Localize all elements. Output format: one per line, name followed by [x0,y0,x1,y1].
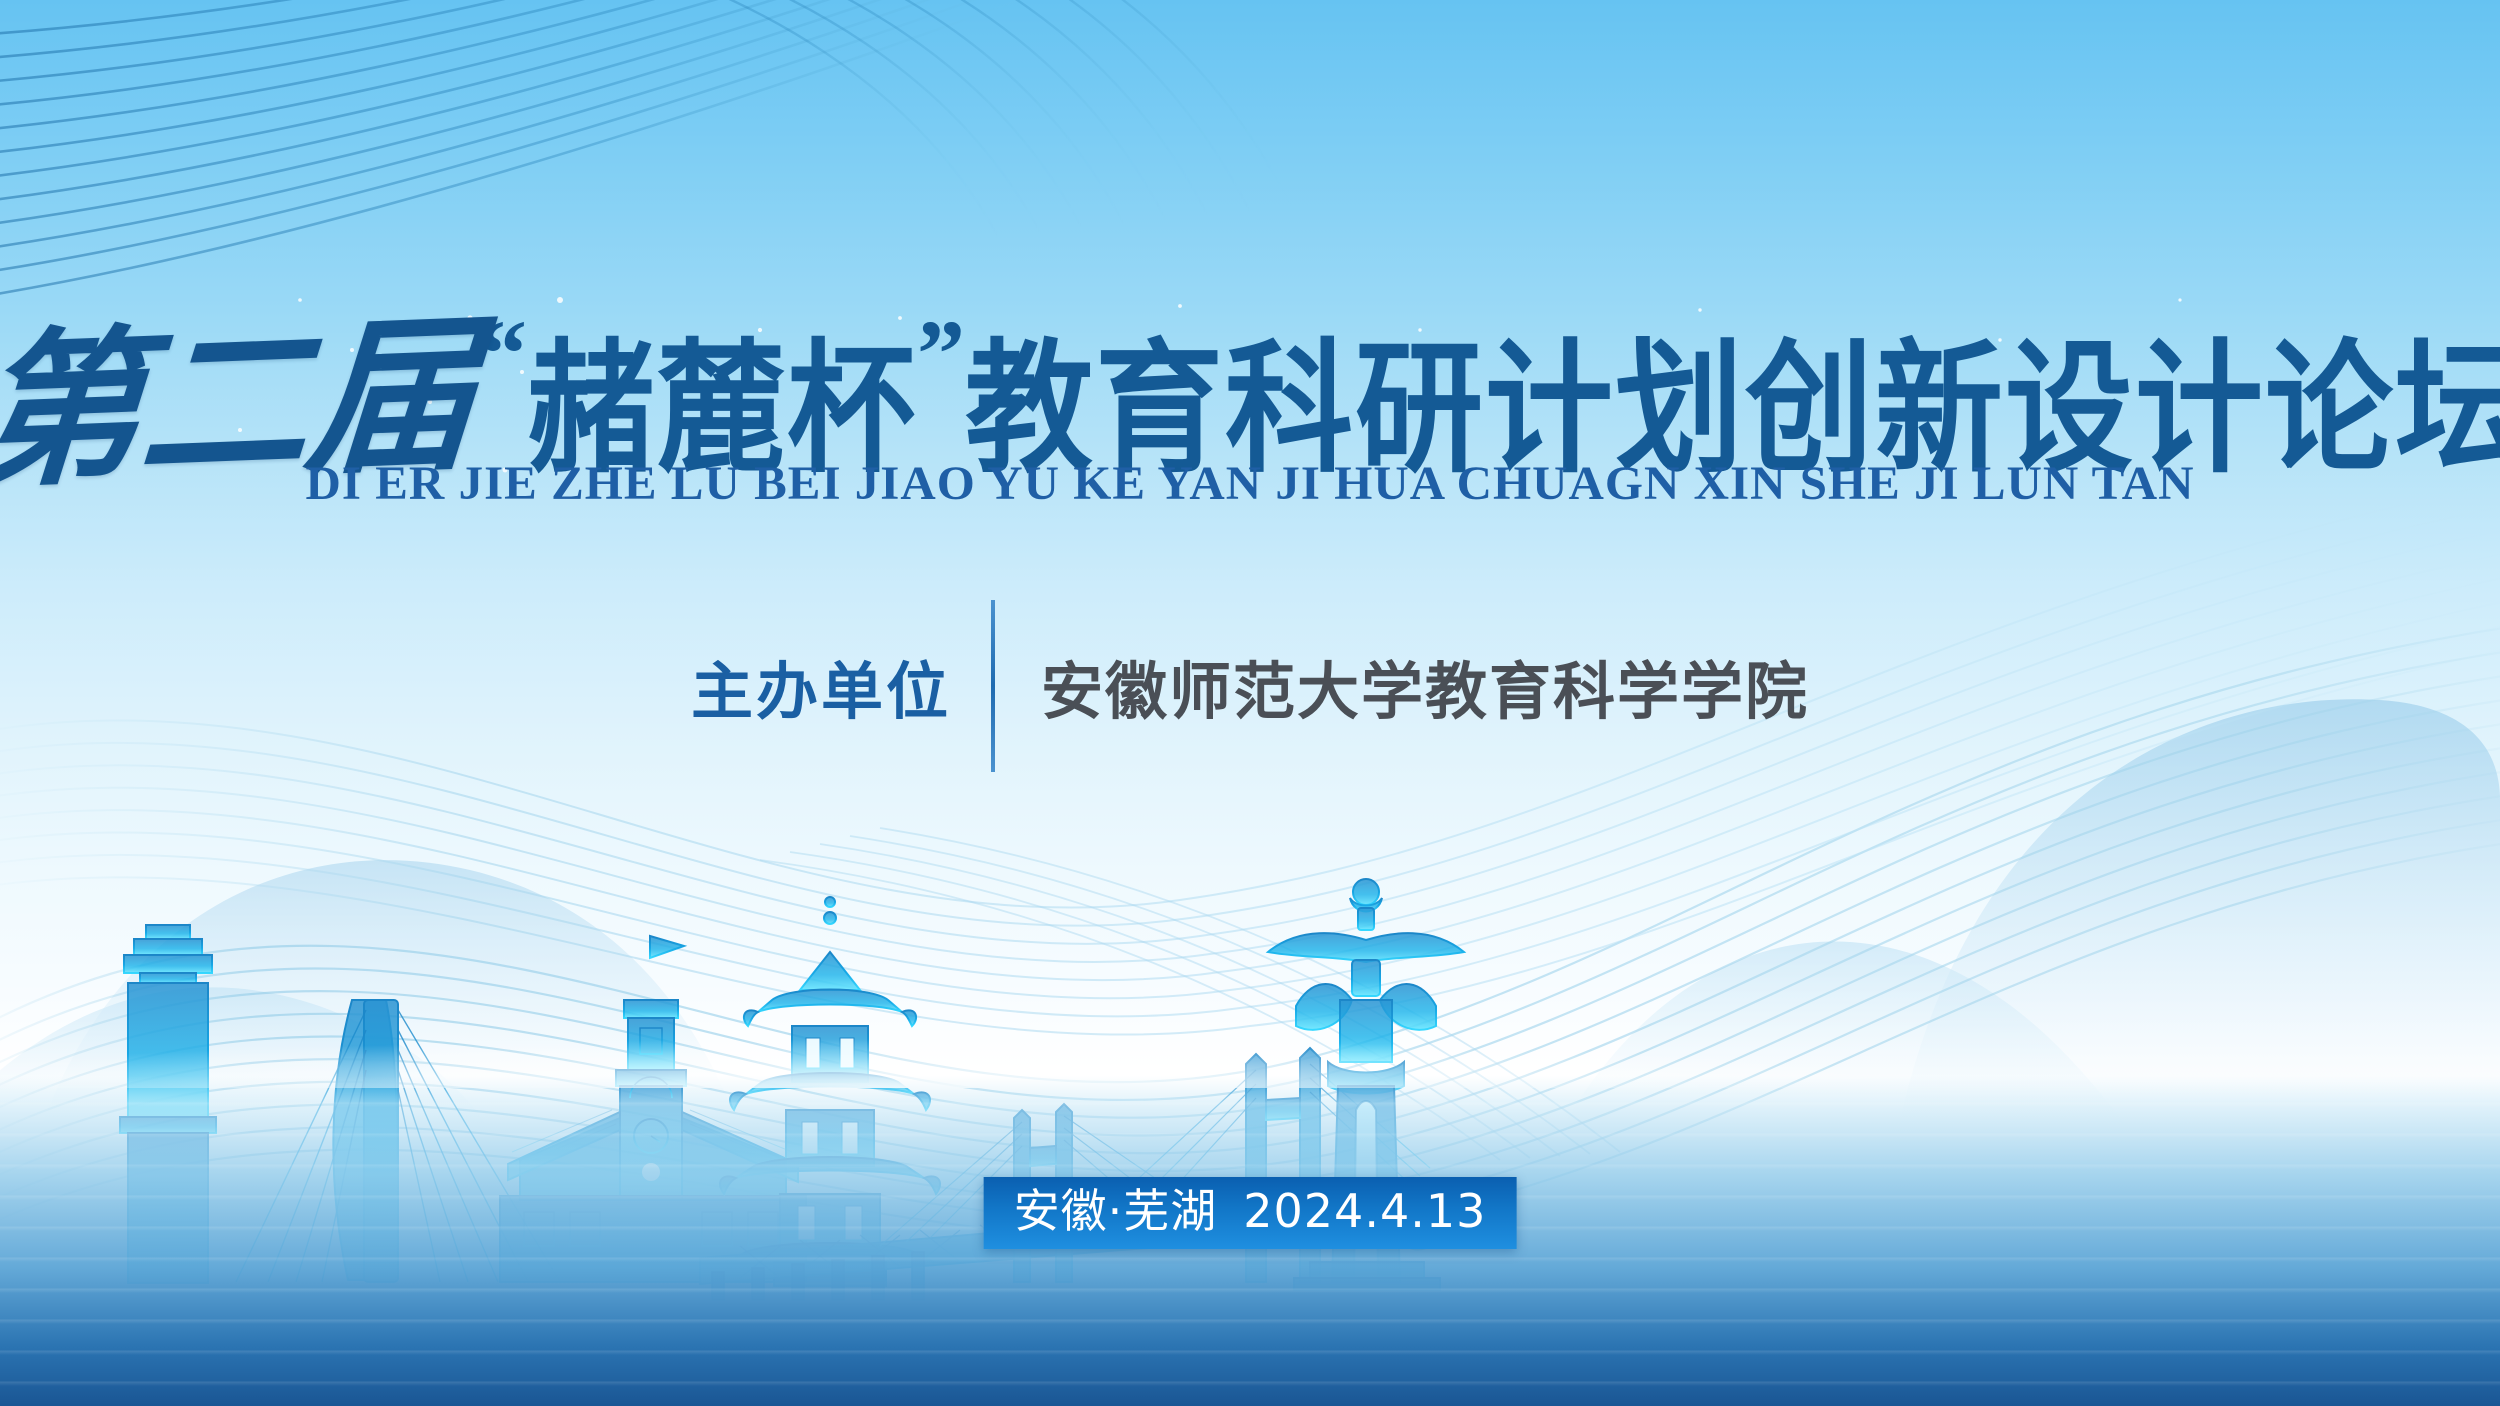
location-text: 安徽·芜湖 [1014,1184,1218,1238]
date-text: 2024.4.13 [1243,1184,1486,1238]
quote-open-mark: “ [479,298,527,409]
poster-canvas: 第二届 “ 赭麓杯 ” 教育科研计划创新设计论坛 DI ER JIE ZHE L… [0,0,2500,1406]
organizer-name: 安徽师范大学教育科学学院 [995,641,1809,731]
headline: 第二届 “ 赭麓杯 ” 教育科研计划创新设计论坛 [0,292,2500,482]
quote-close-mark: ” [917,298,965,409]
organizer-label: 主办单位 [691,641,991,731]
headline-pinyin: DI ER JIE ZHE LU BEI JIAO YU KE YAN JI H… [0,456,2500,511]
location-date-badge: 安徽·芜湖2024.4.13 [984,1177,1517,1249]
organizer-row: 主办单位 安徽师范大学教育科学学院 [0,600,2500,772]
